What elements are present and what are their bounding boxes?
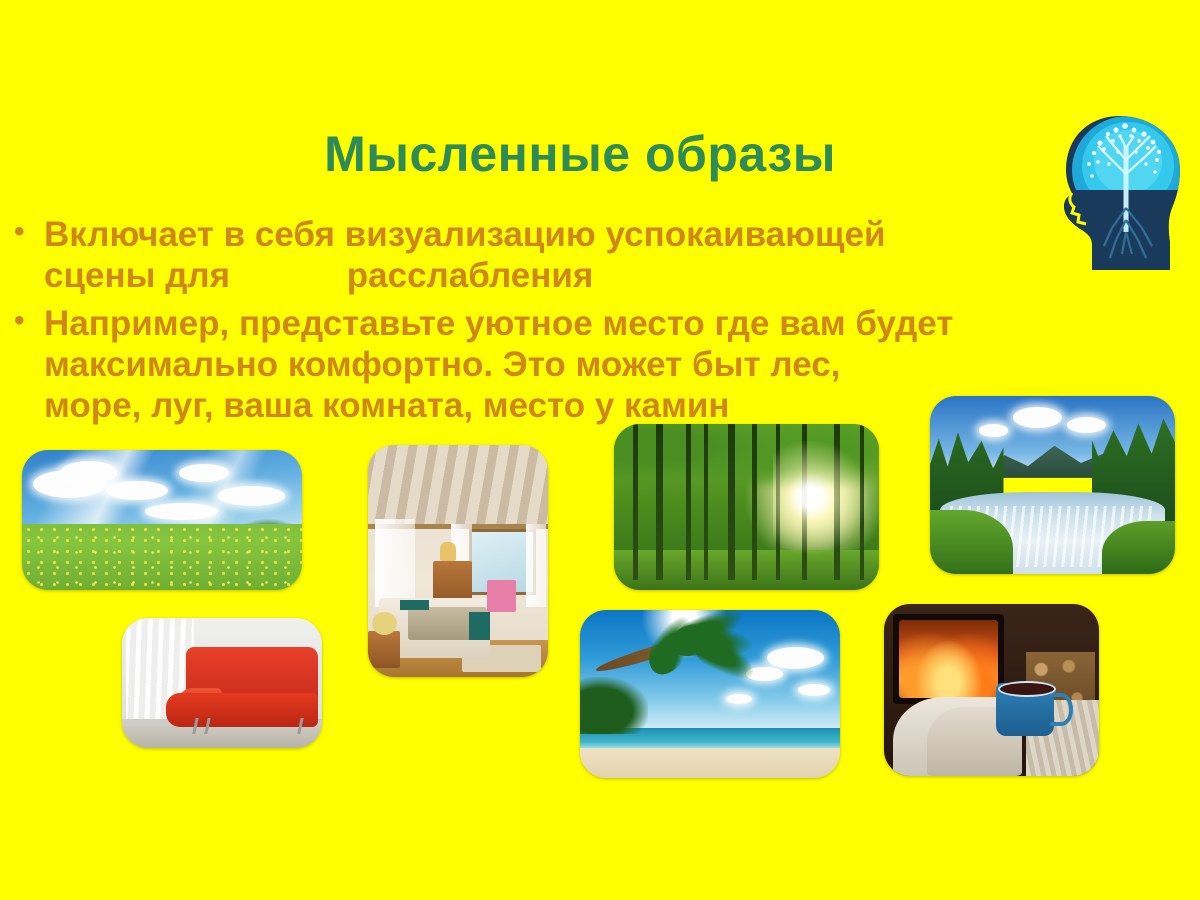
bullet-item: • Включает в себя визуализацию успокаива… [14, 214, 1194, 297]
presentation-slide: Мысленные образы [0, 0, 1200, 900]
bullet-line: море, луг, ваша комната, место у камин [44, 386, 730, 425]
photo-forest [614, 424, 879, 590]
photo-meadow [22, 450, 302, 590]
photo-river [930, 396, 1175, 574]
bullet-line: максимально комфортно. Это может быт лес… [44, 345, 840, 384]
photo-bedroom [368, 445, 548, 677]
bullet-marker: • [14, 303, 44, 340]
photo-sofa [122, 618, 322, 748]
bullet-line: Например, представьте уютное место где в… [44, 304, 953, 343]
photo-fireplace [884, 604, 1099, 776]
bullet-line: Включает в себя визуализацию успокаивающ… [44, 215, 886, 254]
photo-beach [580, 610, 840, 778]
page-title: Мысленные образы [0, 128, 1160, 181]
bullet-marker: • [14, 214, 44, 251]
bullet-text: Включает в себя визуализацию успокаивающ… [44, 214, 1194, 297]
bullet-line: сцены для расслабления [44, 256, 593, 295]
